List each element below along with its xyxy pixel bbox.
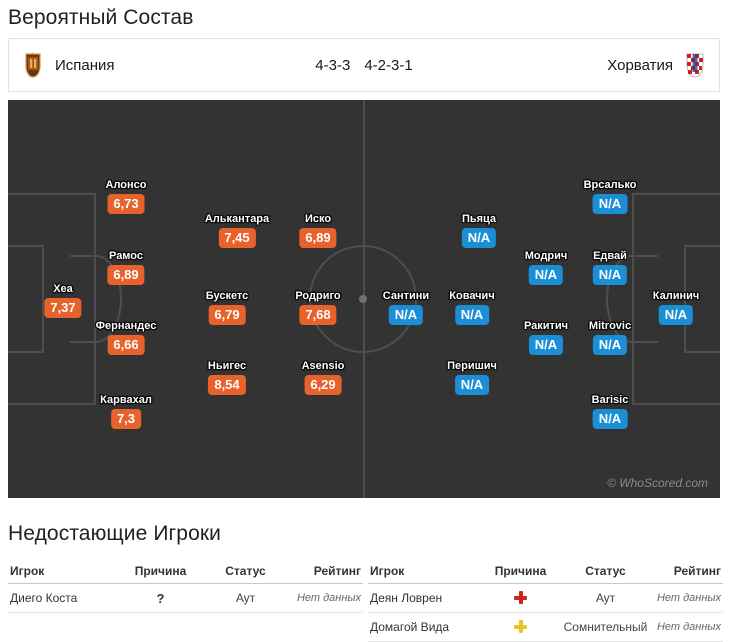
player-name: Карвахал [100, 394, 152, 407]
player-rating-badge: N/A [593, 335, 627, 355]
player-marker[interactable]: ПеришичN/A [447, 360, 497, 395]
player-marker[interactable]: BarisicN/A [592, 394, 629, 429]
column-header-status: Статус [563, 564, 648, 578]
missing-player-name: Диего Коста [8, 591, 118, 605]
player-marker[interactable]: ПьяцаN/A [462, 213, 496, 248]
missing-players-table-home: ИгрокПричинаСтатусРейтингДиего Коста?Аут… [8, 558, 363, 613]
player-rating-badge: 8,54 [208, 375, 245, 395]
player-marker[interactable]: МодричN/A [525, 250, 568, 285]
center-spot [359, 295, 367, 303]
player-marker[interactable]: Рамос6,89 [107, 250, 144, 285]
player-rating-badge: N/A [529, 265, 563, 285]
column-header-reason: Причина [478, 564, 563, 578]
player-marker[interactable]: Алькантара7,45 [205, 213, 269, 248]
away-team-name: Хорватия [607, 57, 673, 74]
croatia-crest-icon [685, 52, 705, 78]
player-name: Ракитич [524, 320, 568, 333]
player-rating-badge: N/A [659, 305, 693, 325]
player-marker[interactable]: РакитичN/A [524, 320, 568, 355]
player-name: Barisic [592, 394, 629, 407]
team-header-bar: Испания 4-3-34-2-3-1 Хорватия [8, 38, 720, 92]
player-name: Ньигес [208, 360, 246, 373]
player-rating-badge: N/A [389, 305, 423, 325]
column-header-player: Игрок [8, 564, 118, 578]
player-rating-badge: N/A [593, 194, 627, 214]
player-marker[interactable]: MitrovicN/A [589, 320, 631, 355]
player-name: Asensio [302, 360, 345, 373]
player-name: Перишич [447, 360, 497, 373]
player-name: Иско [299, 213, 336, 226]
spain-crest-icon [23, 52, 43, 78]
player-name: Алонсо [106, 179, 147, 192]
player-rating-badge: 6,29 [304, 375, 341, 395]
player-name: Едвай [593, 250, 627, 263]
player-name: Mitrovic [589, 320, 631, 333]
player-name: Сантини [383, 290, 429, 303]
home-team-name: Испания [55, 57, 115, 74]
player-marker[interactable]: Asensio6,29 [302, 360, 345, 395]
missing-reason-cell [478, 620, 563, 634]
player-name: Пьяца [462, 213, 496, 226]
probable-lineup-widget: Вероятный Состав Испания 4-3-34-2-3-1 Хо… [0, 0, 730, 635]
table-header-row: ИгрокПричинаСтатусРейтинг [368, 558, 723, 584]
missing-players-title: Недостающие Игроки [8, 522, 221, 546]
missing-players-table-away: ИгрокПричинаСтатусРейтингДеян ЛовренАутН… [368, 558, 723, 642]
away-formation: 4-2-3-1 [364, 57, 412, 74]
player-marker[interactable]: ЕдвайN/A [593, 250, 627, 285]
missing-status: Аут [203, 591, 288, 605]
player-rating-badge: 7,68 [299, 305, 336, 325]
player-name: Врсалько [584, 179, 637, 192]
missing-rating: Нет данных [288, 592, 363, 604]
player-rating-badge: N/A [455, 375, 489, 395]
player-rating-badge: 6,79 [208, 305, 245, 325]
column-header-player: Игрок [368, 564, 478, 578]
player-rating-badge: 6,89 [299, 228, 336, 248]
player-name: Ковачич [449, 290, 494, 303]
missing-player-name: Деян Ловрен [368, 591, 478, 605]
column-header-reason: Причина [118, 564, 203, 578]
player-marker[interactable]: Алонсо6,73 [106, 179, 147, 214]
player-marker[interactable]: ВрсалькоN/A [584, 179, 637, 214]
column-header-rating: Рейтинг [648, 564, 723, 578]
player-name: Бускетс [206, 290, 249, 303]
missing-rating: Нет данных [648, 621, 723, 633]
red-cross-icon [514, 591, 527, 604]
player-rating-badge: 6,89 [107, 265, 144, 285]
pitch: Хеа7,37Алонсо6,73Рамос6,89Фернандес6,66К… [8, 100, 720, 498]
column-header-status: Статус [203, 564, 288, 578]
missing-player-name: Домагой Вида [368, 620, 478, 634]
question-mark-icon: ? [157, 591, 165, 606]
table-row[interactable]: Домагой ВидаСомнительныйНет данных [368, 613, 723, 642]
player-name: Родриго [295, 290, 340, 303]
player-marker[interactable]: КовачичN/A [449, 290, 494, 325]
player-name: Хеа [44, 283, 81, 296]
player-marker[interactable]: Родриго7,68 [295, 290, 340, 325]
player-marker[interactable]: Иско6,89 [299, 213, 336, 248]
missing-status: Аут [563, 591, 648, 605]
table-row[interactable]: Диего Коста?АутНет данных [8, 584, 363, 613]
missing-rating: Нет данных [648, 592, 723, 604]
player-name: Фернандес [96, 320, 157, 333]
player-marker[interactable]: Фернандес6,66 [96, 320, 157, 355]
player-marker[interactable]: Бускетс6,79 [206, 290, 249, 325]
player-marker[interactable]: КалиничN/A [653, 290, 700, 325]
missing-status: Сомнительный [563, 620, 648, 634]
six-yard-box-left [8, 245, 44, 353]
player-rating-badge: 6,66 [107, 335, 144, 355]
player-rating-badge: 7,37 [44, 298, 81, 318]
yellow-cross-icon [514, 620, 527, 633]
player-name: Модрич [525, 250, 568, 263]
player-marker[interactable]: СантиниN/A [383, 290, 429, 325]
player-marker[interactable]: Хеа7,37 [44, 283, 81, 318]
table-header-row: ИгрокПричинаСтатусРейтинг [8, 558, 363, 584]
player-rating-badge: 7,45 [218, 228, 255, 248]
page-title: Вероятный Состав [8, 6, 193, 30]
player-rating-badge: 6,73 [107, 194, 144, 214]
home-team-block[interactable]: Испания [9, 52, 115, 78]
player-rating-badge: N/A [529, 335, 563, 355]
player-rating-badge: 7,3 [111, 409, 141, 429]
watermark: © WhoScored.com [607, 476, 708, 490]
player-marker[interactable]: Карвахал7,3 [100, 394, 152, 429]
player-name: Калинич [653, 290, 700, 303]
player-rating-badge: N/A [593, 409, 627, 429]
player-name: Алькантара [205, 213, 269, 226]
player-rating-badge: N/A [462, 228, 496, 248]
column-header-rating: Рейтинг [288, 564, 363, 578]
player-marker[interactable]: Ньигес8,54 [208, 360, 246, 395]
away-team-block[interactable]: Хорватия [607, 52, 719, 78]
missing-reason-cell: ? [118, 591, 203, 606]
home-formation: 4-3-3 [315, 57, 350, 74]
player-name: Рамос [107, 250, 144, 263]
table-row[interactable]: Деян ЛовренАутНет данных [368, 584, 723, 613]
player-rating-badge: N/A [455, 305, 489, 325]
missing-reason-cell [478, 591, 563, 605]
player-rating-badge: N/A [593, 265, 627, 285]
